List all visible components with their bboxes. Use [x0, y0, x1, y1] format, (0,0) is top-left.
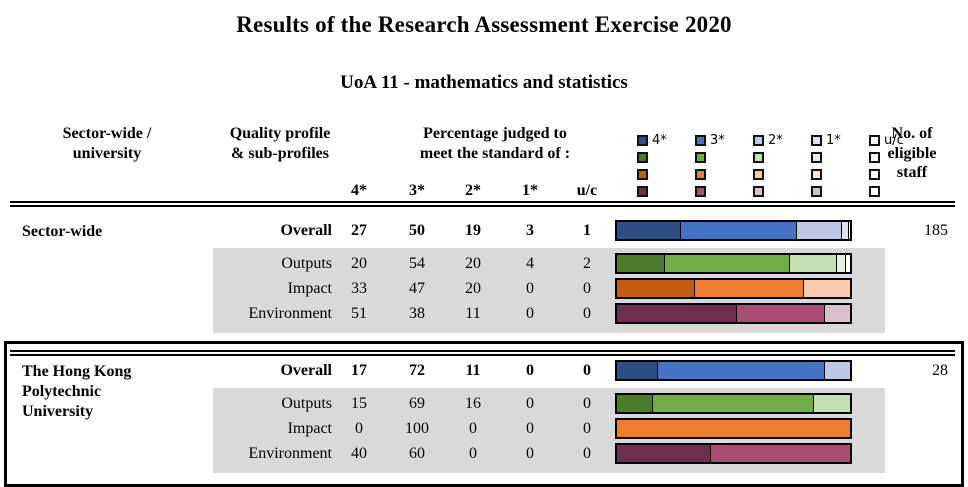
color-swatch-icon	[637, 152, 648, 163]
value-3star: 38	[389, 305, 445, 323]
color-swatch-icon	[753, 186, 764, 197]
legend-swatch-environment-4star	[637, 186, 695, 197]
legend-swatch-environment-2star	[753, 186, 811, 197]
color-swatch-icon	[695, 152, 706, 163]
polyu-block-rule	[10, 350, 955, 356]
color-swatch-icon	[869, 135, 880, 146]
value-4star: 17	[331, 362, 387, 380]
legend-swatch-overall-uc: u/c	[869, 134, 927, 147]
bar-segment-4star	[617, 395, 652, 412]
legend-swatch-overall-2star: 2*	[753, 134, 811, 147]
profile-label-impact: Impact	[200, 420, 332, 438]
value-1star: 4	[502, 255, 558, 273]
value-4star: 0	[331, 420, 387, 438]
stacked-bar-impact	[615, 278, 852, 299]
legend-swatch-overall-3star: 3*	[695, 134, 753, 147]
bar-segment-4star	[617, 222, 680, 239]
value-2star: 0	[445, 445, 501, 463]
value-1star: 3	[502, 222, 558, 240]
bar-segment-4star	[617, 280, 694, 297]
value-4star: 51	[331, 305, 387, 323]
color-swatch-icon	[753, 152, 764, 163]
column-header-quality-profile: Quality profile & sub-profiles	[192, 124, 368, 163]
stacked-bar-overall	[615, 220, 852, 241]
bar-segment-2star	[796, 222, 840, 239]
rae-results-figure: Results of the Research Assessment Exerc…	[0, 0, 968, 486]
bar-segment-3star	[664, 255, 790, 272]
grade-header-1star: 1*	[502, 182, 558, 200]
color-swatch-icon	[811, 186, 822, 197]
bar-segment-2star	[789, 255, 836, 272]
legend-swatch-environment-uc	[869, 186, 927, 197]
value-3star: 72	[389, 362, 445, 380]
bar-segment-4star	[617, 255, 664, 272]
value-2star: 19	[445, 222, 501, 240]
value-1star: 0	[502, 420, 558, 438]
bar-segment-4star	[617, 445, 710, 462]
profile-label-environment: Environment	[200, 445, 332, 463]
table-row: Overall17721100	[0, 359, 968, 384]
header-rule	[10, 201, 955, 207]
value-uc: 0	[559, 305, 615, 323]
value-4star: 40	[331, 445, 387, 463]
value-2star: 20	[445, 280, 501, 298]
value-3star: 47	[389, 280, 445, 298]
legend-row-outputs	[637, 149, 927, 166]
profile-label-overall: Overall	[200, 362, 332, 380]
color-swatch-icon	[637, 186, 648, 197]
bar-segment-4star	[617, 305, 736, 322]
page-title: Results of the Research Assessment Exerc…	[0, 12, 968, 38]
grade-header-4star: 4*	[331, 182, 387, 200]
legend-swatch-impact-1star	[811, 169, 869, 180]
value-uc: 1	[559, 222, 615, 240]
stacked-bar-overall	[615, 360, 852, 381]
legend-swatch-impact-uc	[869, 169, 927, 180]
legend-row-impact	[637, 166, 927, 183]
color-swatch-icon	[753, 169, 764, 180]
grade-header-2star: 2*	[445, 182, 501, 200]
legend-label: u/c	[884, 134, 904, 147]
bar-segment-3star	[652, 395, 813, 412]
color-swatch-icon	[695, 135, 706, 146]
profile-label-impact: Impact	[200, 280, 332, 298]
column-header-university: Sector-wide / university	[22, 124, 192, 163]
value-4star: 20	[331, 255, 387, 273]
bar-segment-2star	[824, 362, 850, 379]
table-row: Outputs20542042	[0, 252, 968, 277]
legend-swatch-outputs-2star	[753, 152, 811, 163]
bar-segment-1star	[836, 255, 845, 272]
value-1star: 0	[502, 362, 558, 380]
value-3star: 60	[389, 445, 445, 463]
value-uc: 0	[559, 395, 615, 413]
bar-segment-3star	[680, 222, 797, 239]
color-swatch-icon	[811, 135, 822, 146]
bar-segment-3star	[710, 445, 850, 462]
table-row: Impact33472000	[0, 277, 968, 302]
value-uc: 0	[559, 280, 615, 298]
stacked-bar-outputs	[615, 393, 852, 414]
bar-segment-3star	[694, 280, 804, 297]
bar-segment-uc	[848, 222, 850, 239]
value-2star: 16	[445, 395, 501, 413]
bar-segment-1star	[841, 222, 848, 239]
legend-swatch-outputs-3star	[695, 152, 753, 163]
profile-label-environment: Environment	[200, 305, 332, 323]
value-4star: 15	[331, 395, 387, 413]
value-3star: 54	[389, 255, 445, 273]
stacked-bar-outputs	[615, 253, 852, 274]
legend-swatch-environment-3star	[695, 186, 753, 197]
color-swatch-icon	[869, 186, 880, 197]
legend-swatch-outputs-4star	[637, 152, 695, 163]
table-row: Impact0100000	[0, 417, 968, 442]
legend-swatch-impact-4star	[637, 169, 695, 180]
profile-label-outputs: Outputs	[200, 395, 332, 413]
value-1star: 0	[502, 445, 558, 463]
table-row: Outputs15691600	[0, 392, 968, 417]
color-swatch-icon	[753, 135, 764, 146]
color-swatch-icon	[811, 152, 822, 163]
value-2star: 0	[445, 420, 501, 438]
color-swatch-icon	[811, 169, 822, 180]
value-uc: 2	[559, 255, 615, 273]
stacked-bar-impact	[615, 418, 852, 439]
legend-row-environment	[637, 183, 927, 200]
bar-segment-2star	[824, 305, 850, 322]
legend-swatch-overall-4star: 4*	[637, 134, 695, 147]
bar-segment-3star	[657, 362, 825, 379]
value-3star: 50	[389, 222, 445, 240]
value-uc: 0	[559, 420, 615, 438]
color-swatch-icon	[869, 169, 880, 180]
value-4star: 27	[331, 222, 387, 240]
stacked-bar-environment	[615, 443, 852, 464]
page-subtitle: UoA 11 - mathematics and statistics	[0, 72, 968, 94]
value-1star: 0	[502, 305, 558, 323]
value-uc: 0	[559, 362, 615, 380]
value-uc: 0	[559, 445, 615, 463]
bar-segment-2star	[813, 395, 850, 412]
legend-label: 1*	[826, 134, 841, 147]
legend-swatch-environment-1star	[811, 186, 869, 197]
legend-label: 4*	[652, 134, 667, 147]
color-swatch-icon	[637, 135, 648, 146]
table-row: Overall27501931	[0, 219, 968, 244]
value-3star: 100	[389, 420, 445, 438]
table-row: Environment51381100	[0, 302, 968, 327]
bar-segment-3star	[617, 420, 850, 437]
color-swatch-icon	[637, 169, 648, 180]
value-2star: 11	[445, 362, 501, 380]
bar-segment-3star	[736, 305, 825, 322]
stacked-bar-environment	[615, 303, 852, 324]
legend: 4*3*2*1*u/c	[637, 132, 927, 200]
table-row: Environment4060000	[0, 442, 968, 467]
legend-swatch-impact-2star	[753, 169, 811, 180]
grade-header-uc: u/c	[559, 182, 615, 200]
legend-swatch-outputs-1star	[811, 152, 869, 163]
value-1star: 0	[502, 395, 558, 413]
column-header-percentage: Percentage judged to meet the standard o…	[370, 124, 620, 163]
grade-header-3star: 3*	[389, 182, 445, 200]
color-swatch-icon	[695, 186, 706, 197]
bar-segment-2star	[803, 280, 850, 297]
value-2star: 20	[445, 255, 501, 273]
bar-segment-uc	[845, 255, 850, 272]
legend-label: 2*	[768, 134, 783, 147]
legend-swatch-impact-3star	[695, 169, 753, 180]
profile-label-overall: Overall	[200, 222, 332, 240]
value-3star: 69	[389, 395, 445, 413]
legend-row-overall: 4*3*2*1*u/c	[637, 132, 927, 149]
color-swatch-icon	[695, 169, 706, 180]
bar-segment-4star	[617, 362, 657, 379]
value-2star: 11	[445, 305, 501, 323]
value-1star: 0	[502, 280, 558, 298]
value-4star: 33	[331, 280, 387, 298]
legend-swatch-overall-1star: 1*	[811, 134, 869, 147]
legend-swatch-outputs-uc	[869, 152, 927, 163]
profile-label-outputs: Outputs	[200, 255, 332, 273]
color-swatch-icon	[869, 152, 880, 163]
legend-label: 3*	[710, 134, 725, 147]
